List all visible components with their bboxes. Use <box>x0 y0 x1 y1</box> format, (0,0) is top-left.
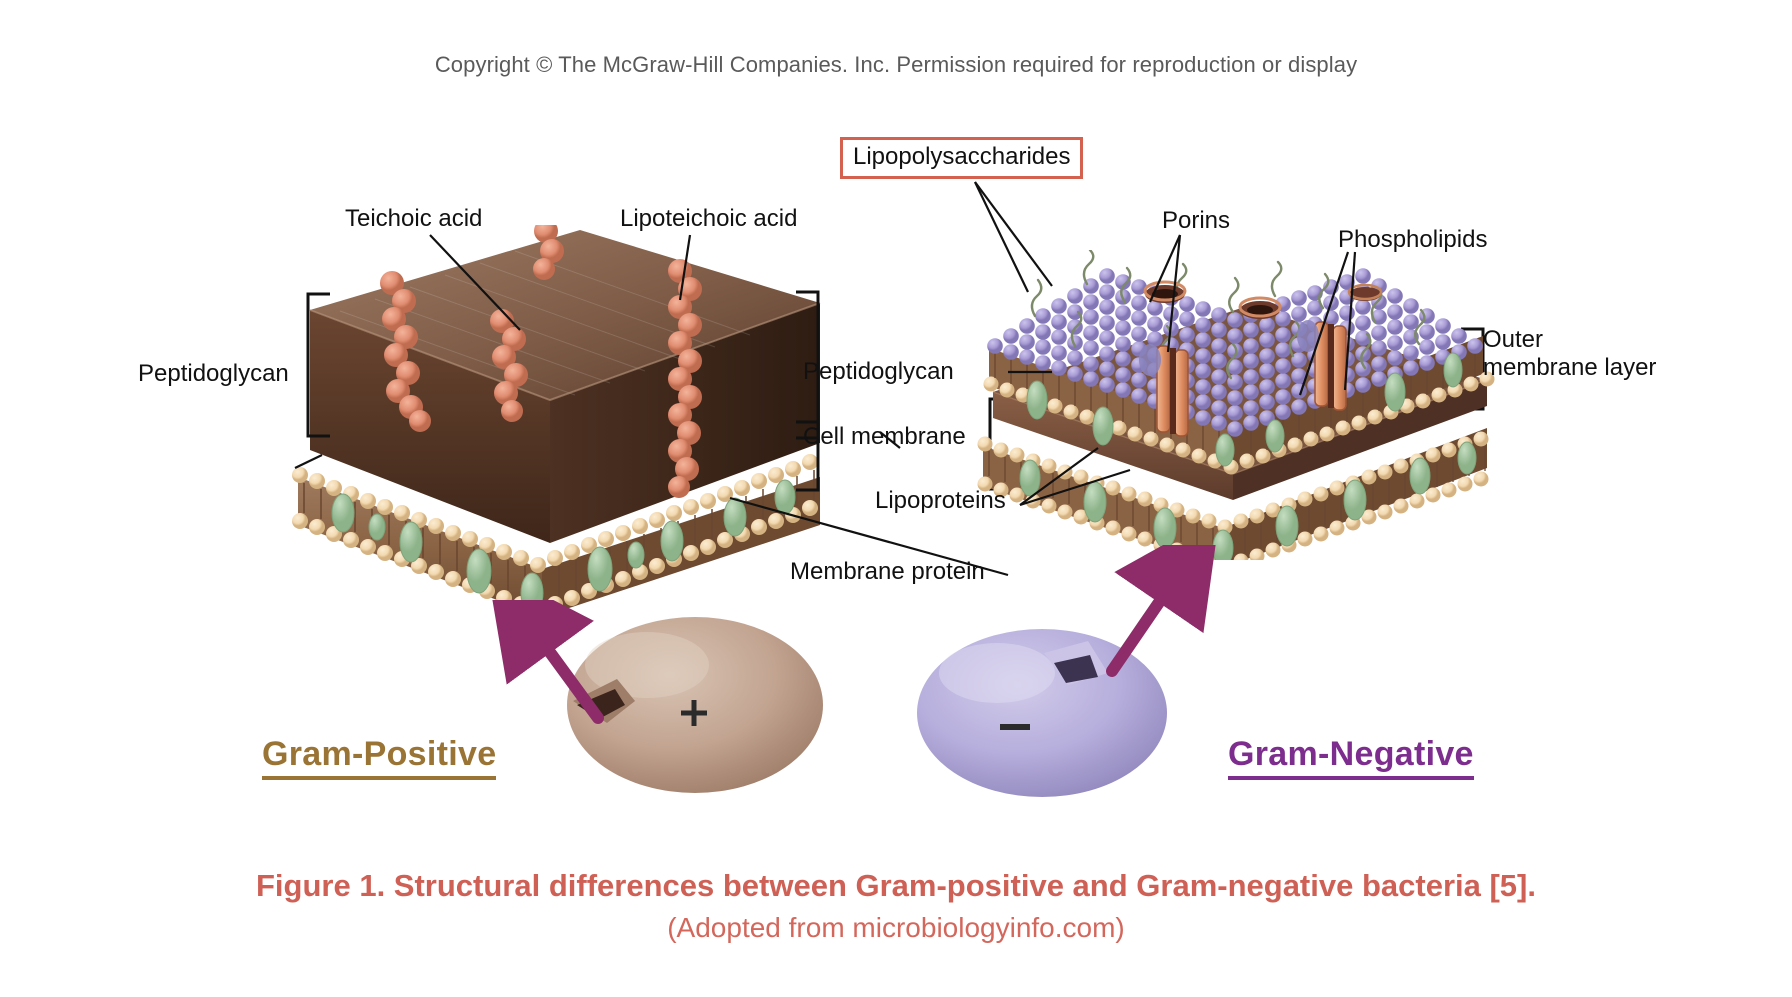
label-peptidoglycan-left: Peptidoglycan <box>138 360 289 388</box>
label-lipoteichoic-acid: Lipoteichoic acid <box>620 205 797 233</box>
label-lipopolysaccharides: Lipopolysaccharides <box>840 137 1083 179</box>
label-phospholipids: Phospholipids <box>1338 226 1487 254</box>
label-membrane-protein: Membrane protein <box>790 558 985 586</box>
figure-canvas: Copyright © The McGraw-Hill Companies. I… <box>0 0 1792 997</box>
figure-caption: Figure 1. Structural differences between… <box>0 868 1792 904</box>
outer-membrane-line1: Outer <box>1483 326 1543 353</box>
label-porins: Porins <box>1162 207 1230 235</box>
figure-source: (Adopted from microbiologyinfo.com) <box>0 912 1792 944</box>
gram-positive-label: Gram-Positive <box>262 735 496 780</box>
gram-positive-arrow <box>480 600 630 740</box>
outer-membrane-line2: membrane layer <box>1483 354 1656 381</box>
label-teichoic-acid: Teichoic acid <box>345 205 482 233</box>
gram-negative-arrow <box>1090 545 1230 685</box>
gram-negative-label: Gram-Negative <box>1228 735 1474 780</box>
label-outer-membrane-layer: Outer membrane layer <box>1483 326 1713 381</box>
label-cell-membrane: Cell membrane <box>803 423 966 451</box>
label-lipoproteins: Lipoproteins <box>875 487 1006 515</box>
label-peptidoglycan-center: Peptidoglycan <box>803 358 954 386</box>
